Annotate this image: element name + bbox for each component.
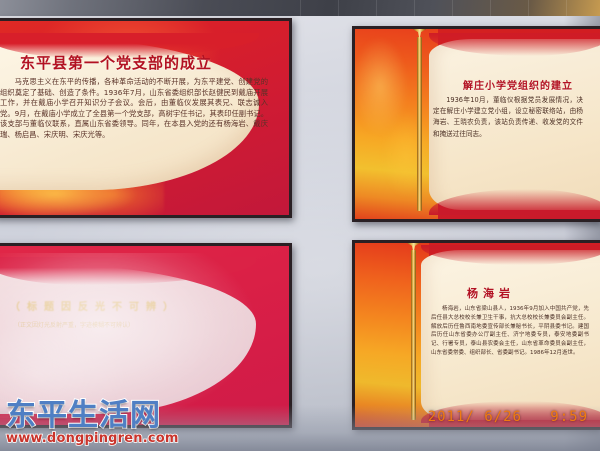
board-title: 杨海岩: [467, 285, 515, 301]
watermark-site-name: 东平生活网: [6, 401, 179, 431]
photograph-canvas: 东平县第一个党支部的成立 马克思主义在东平的传播，各种革命活动的不断开展，为东平…: [0, 0, 600, 451]
display-board-bottom-right: 杨海岩 杨海岩，山东省梁山县人，1936年9月加入中国共产党，先后任县大总校校长…: [352, 240, 600, 430]
board-body-text: 1936年10月，董临仪根据党员发展情况，决定在解庄小学建立党小组，设立秘密联络…: [433, 95, 583, 140]
board-body-text: （正文因灯光反射严重，字迹模糊不可辨认）: [2, 320, 260, 331]
flagpole-icon: [417, 37, 422, 212]
board-body-text: 杨海岩，山东省梁山县人，1936年9月加入中国共产党，先后任县大总校校长兼卫生干…: [431, 305, 589, 358]
board-title: 东平县第一个党支部的成立: [20, 52, 212, 73]
display-board-top-right: 解庄小学党组织的建立 1936年10月，董临仪根据党员发展情况，决定在解庄小学建…: [352, 26, 600, 222]
flag-flame-gradient: [355, 29, 438, 219]
board-body-text: 马克思主义在东平的传播，各种革命活动的不断开展，为东平建党、创建党的组织奠定了基…: [0, 77, 268, 140]
camera-timestamp: 2011/ 6/26 9:59: [428, 409, 588, 425]
board-title: （标题因反光不可辨）: [10, 298, 180, 313]
watermark-site-url: www.dongpingren.com: [6, 432, 179, 445]
watermark: 东平生活网 www.dongpingren.com: [6, 401, 179, 445]
board-title: 解庄小学党组织的建立: [463, 77, 573, 92]
flagpole-icon: [411, 250, 416, 419]
display-board-top-left: 东平县第一个党支部的成立 马克思主义在东平的传播，各种革命活动的不断开展，为东平…: [0, 18, 292, 218]
flag-flame-gradient: [355, 243, 429, 427]
